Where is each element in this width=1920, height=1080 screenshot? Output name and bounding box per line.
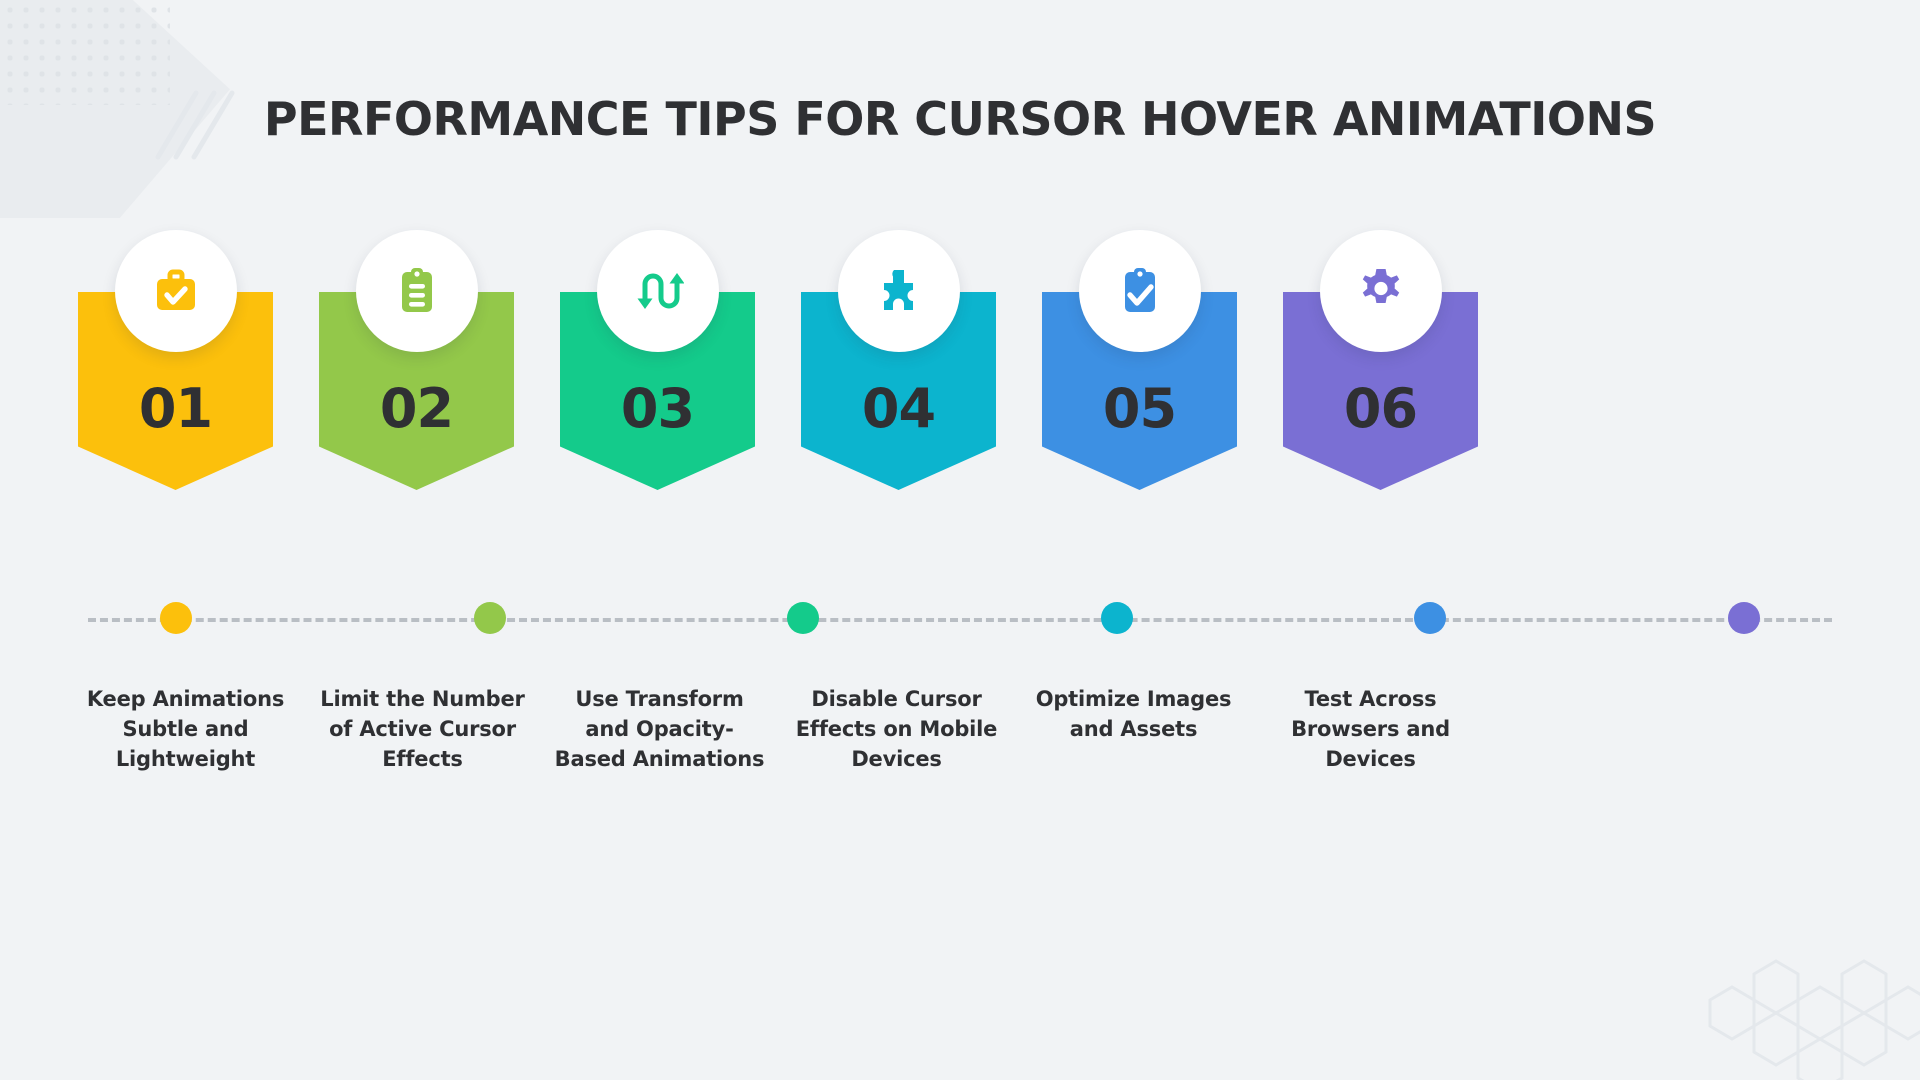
step-number-05: 05 <box>1103 382 1176 436</box>
step-caption-03: Use Transform and Opacity-Based Animatio… <box>552 685 767 774</box>
step-caption-01: Keep Animations Subtle and Lightweight <box>78 685 293 774</box>
step-number-06: 06 <box>1344 382 1417 436</box>
timeline-dots <box>78 602 1842 634</box>
step-caption-04: Disable Cursor Effects on Mobile Devices <box>789 685 1004 774</box>
timeline-dot-01[interactable] <box>160 602 192 634</box>
step-column-01: 01 <box>78 292 273 490</box>
step-badge-02[interactable] <box>356 230 478 352</box>
step-number-01: 01 <box>139 382 212 436</box>
step-column-02: 02 <box>319 292 514 490</box>
gear-icon <box>1355 265 1407 317</box>
step-badge-03[interactable] <box>597 230 719 352</box>
step-caption-06: Test Across Browsers and Devices <box>1263 685 1478 774</box>
step-badge-01[interactable] <box>115 230 237 352</box>
step-caption-05: Optimize Images and Assets <box>1026 685 1241 774</box>
step-number-04: 04 <box>862 382 935 436</box>
puzzle-piece-icon <box>873 265 925 317</box>
timeline-dot-05[interactable] <box>1414 602 1446 634</box>
dot-pattern-decoration <box>0 0 170 105</box>
hexagon-pattern-decoration <box>1650 880 1920 1080</box>
step-badge-04[interactable] <box>838 230 960 352</box>
timeline-dot-04[interactable] <box>1101 602 1133 634</box>
step-badge-06[interactable] <box>1320 230 1442 352</box>
steps-row: 01 02 <box>78 292 1478 490</box>
clipboard-list-icon <box>391 265 443 317</box>
infographic-canvas: PERFORMANCE TIPS FOR CURSOR HOVER ANIMAT… <box>0 0 1920 1080</box>
clipboard-check-icon <box>1114 265 1166 317</box>
swap-arrows-icon <box>632 265 684 317</box>
step-number-02: 02 <box>380 382 453 436</box>
timeline-dot-03[interactable] <box>787 602 819 634</box>
timeline-dot-02[interactable] <box>474 602 506 634</box>
step-column-06: 06 <box>1283 292 1478 490</box>
briefcase-check-icon <box>150 265 202 317</box>
page-title: PERFORMANCE TIPS FOR CURSOR HOVER ANIMAT… <box>0 92 1920 146</box>
timeline-dot-06[interactable] <box>1728 602 1760 634</box>
step-caption-02: Limit the Number of Active Cursor Effect… <box>315 685 530 774</box>
step-number-03: 03 <box>621 382 694 436</box>
step-column-05: 05 <box>1042 292 1237 490</box>
timeline <box>88 618 1832 620</box>
captions-row: Keep Animations Subtle and Lightweight L… <box>78 685 1478 774</box>
step-column-03: 03 <box>560 292 755 490</box>
step-column-04: 04 <box>801 292 996 490</box>
step-badge-05[interactable] <box>1079 230 1201 352</box>
